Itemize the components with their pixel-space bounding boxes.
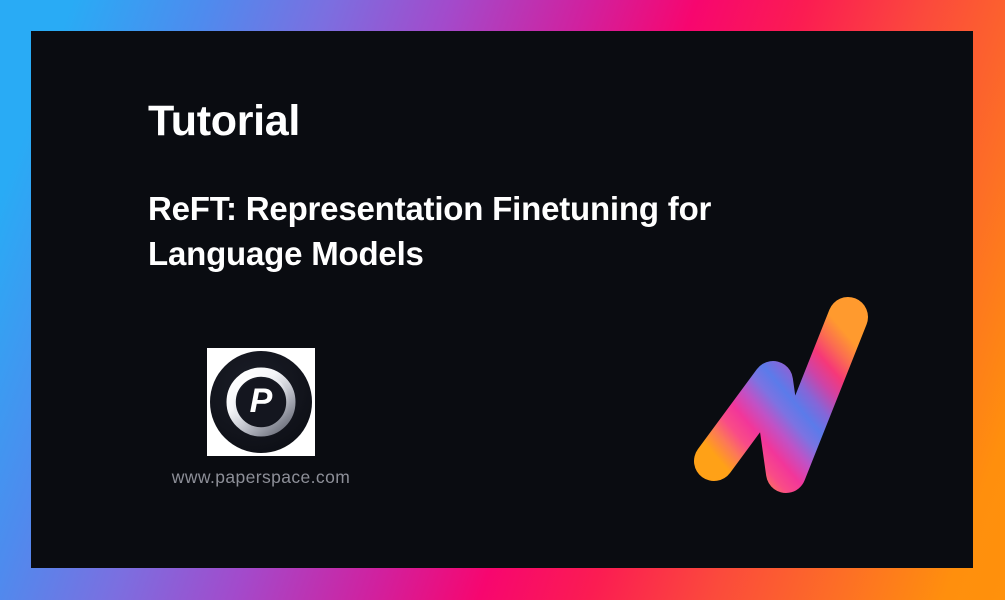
- logo-tile: P: [207, 348, 315, 456]
- site-url-label: www.paperspace.com: [148, 467, 374, 488]
- card-headline: ReFT: Representation Finetuning for Lang…: [148, 186, 808, 276]
- zigzag-squiggle-icon: [676, 281, 891, 496]
- card-panel: Tutorial ReFT: Representation Finetuning…: [31, 31, 973, 568]
- social-card-canvas: Tutorial ReFT: Representation Finetuning…: [0, 0, 1005, 600]
- paperspace-logo-letter: P: [250, 382, 273, 420]
- card-kicker: Tutorial: [148, 100, 300, 143]
- paperspace-logo-icon: P: [207, 348, 315, 456]
